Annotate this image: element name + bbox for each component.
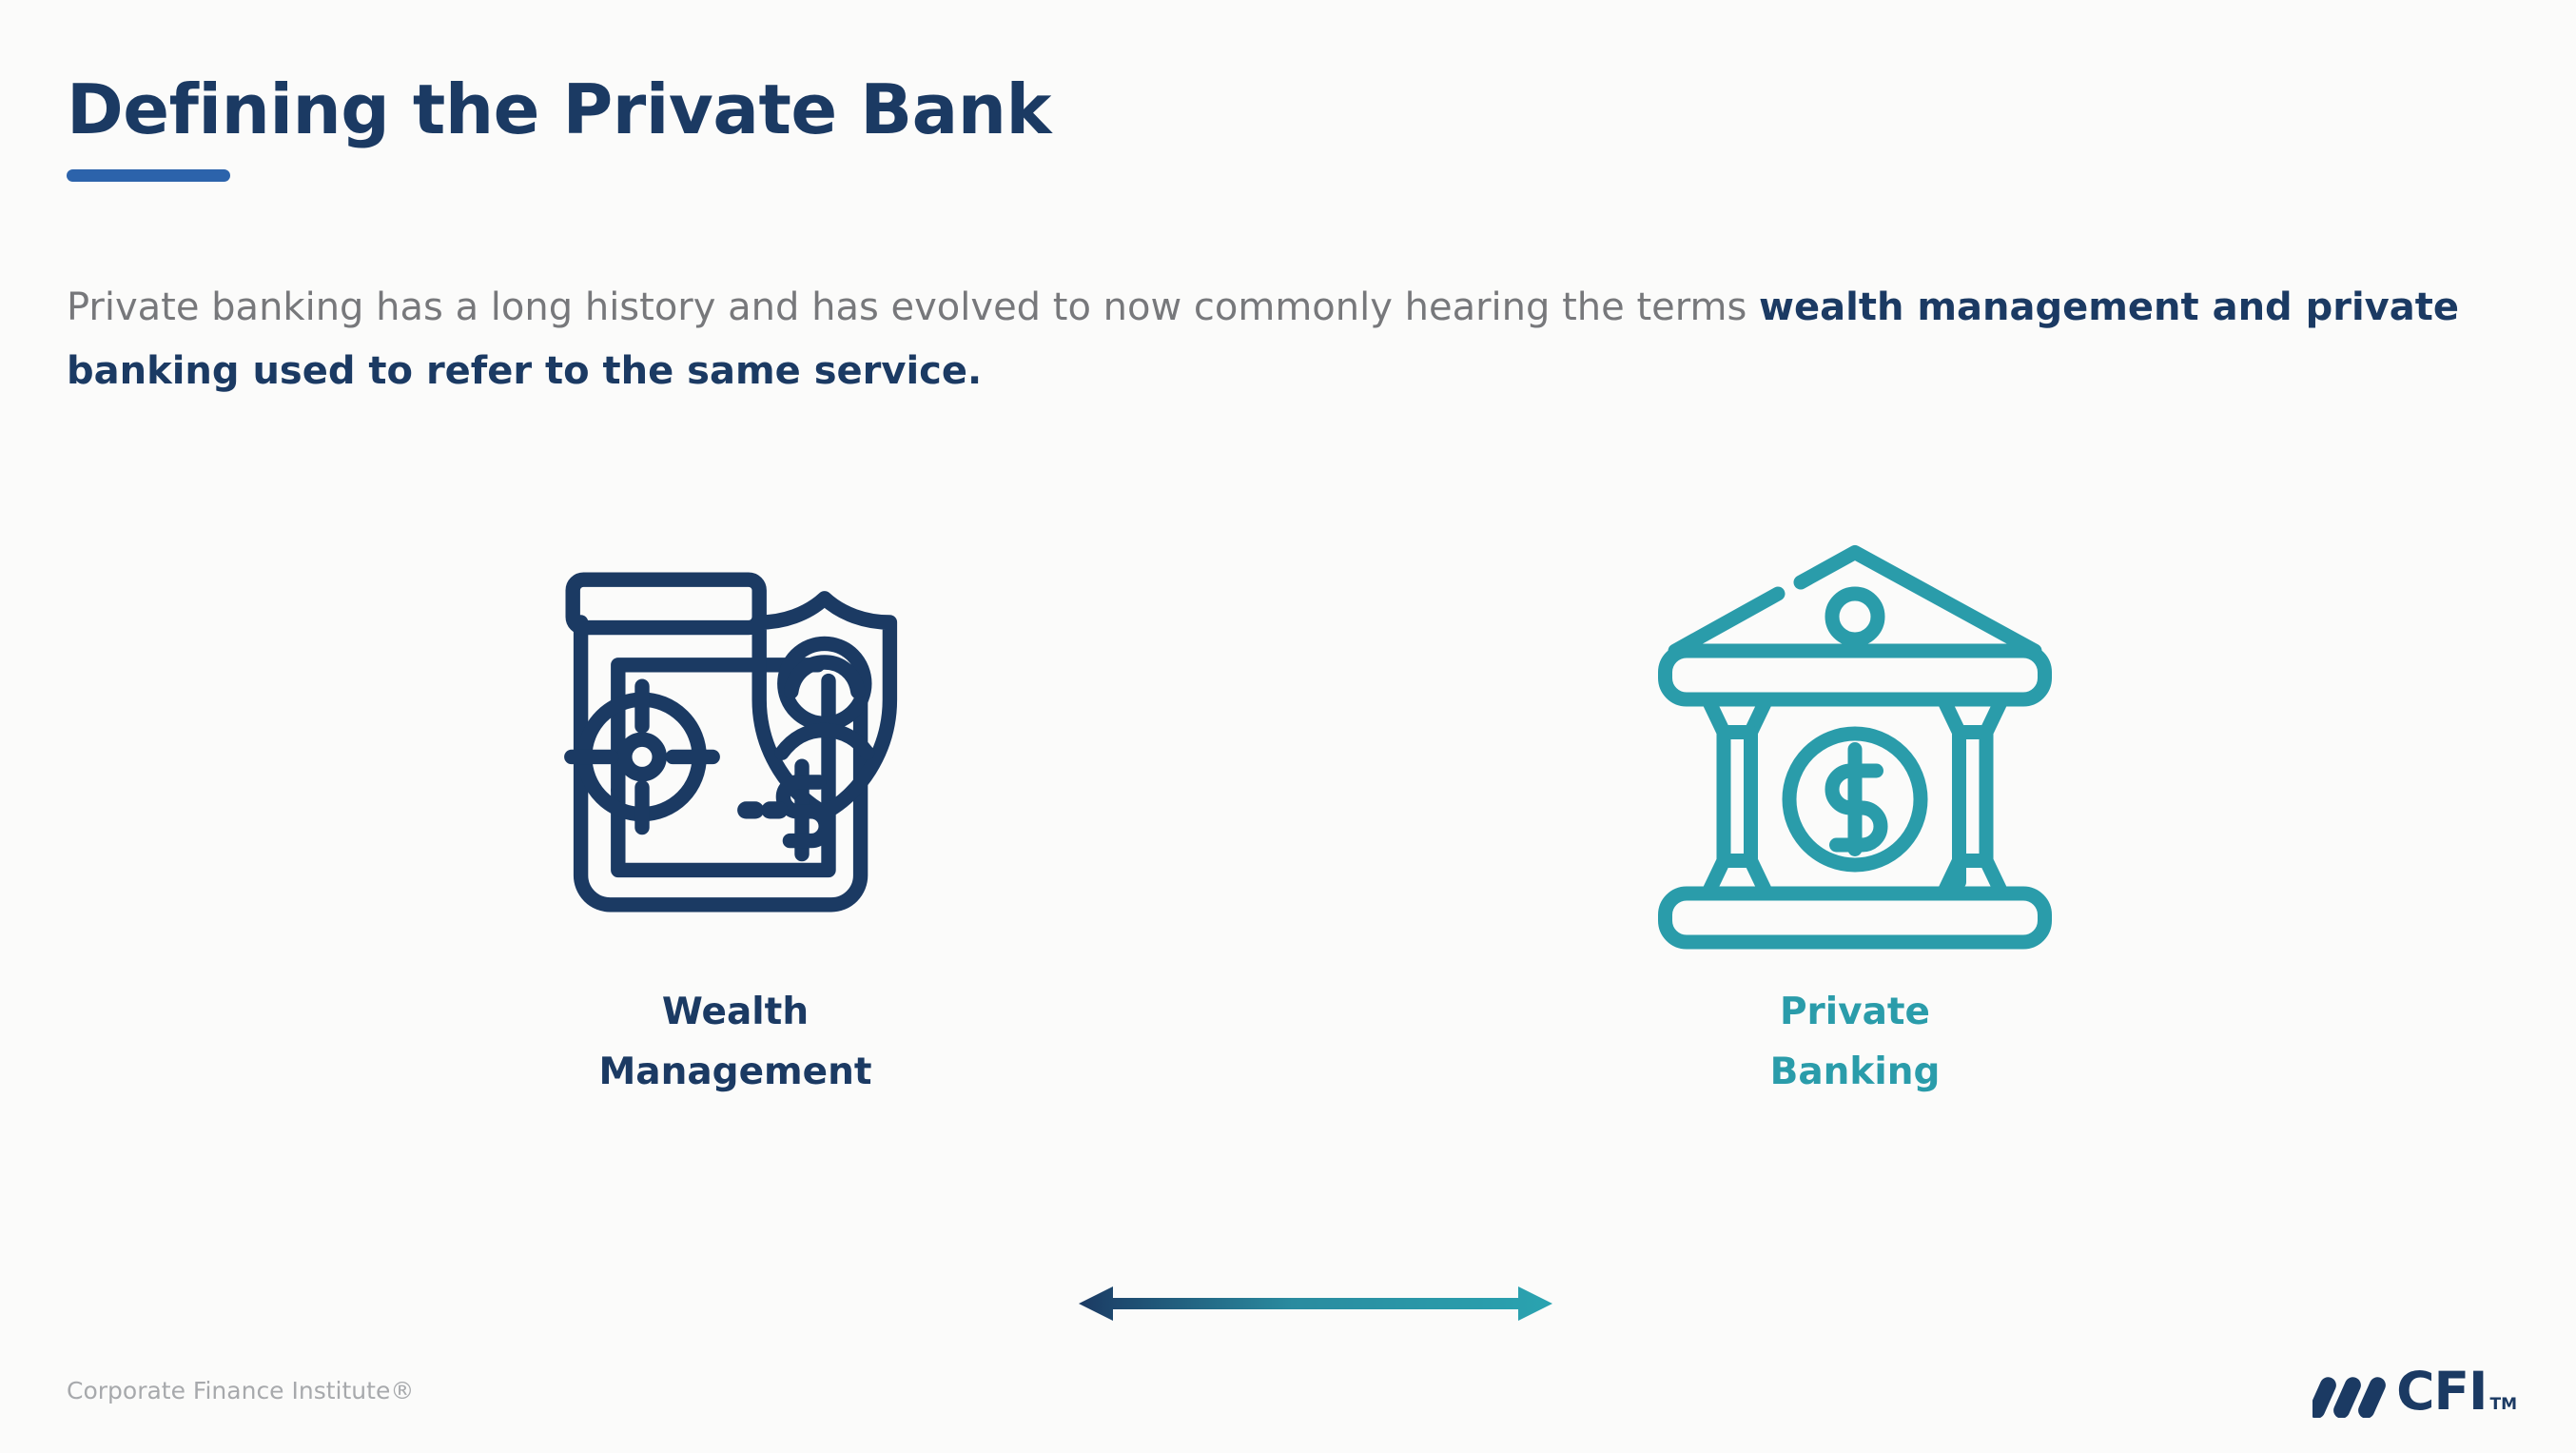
cfi-logo-wordmark: CFI <box>2396 1365 2487 1418</box>
diagram-node-private-banking: Private Banking <box>1589 533 2121 1161</box>
node-label-line-2: Management <box>598 1042 871 1102</box>
cfi-logo-bars-icon <box>2313 1363 2396 1418</box>
page-title: Defining the Private Bank <box>67 74 2483 147</box>
footer-credit: Corporate Finance Institute® <box>67 1377 414 1404</box>
cfi-logo: CFI TM <box>2313 1363 2517 1418</box>
cfi-logo-trademark: TM <box>2489 1395 2517 1414</box>
diagram-node-label: Wealth Management <box>598 982 871 1102</box>
diagram-node-label: Private Banking <box>1770 982 1941 1102</box>
portfolio-shield-target-icon <box>536 533 935 952</box>
bank-building-dollar-icon <box>1641 533 2069 952</box>
node-label-line-2: Banking <box>1770 1042 1941 1102</box>
relationship-diagram: Wealth Management <box>0 533 2576 1180</box>
diagram-node-wealth-management: Wealth Management <box>469 533 1002 1161</box>
intro-paragraph: Private banking has a long history and h… <box>67 276 2473 403</box>
slide-header: Defining the Private Bank <box>67 74 2483 182</box>
double-headed-arrow <box>1073 1275 1558 1332</box>
node-label-line-1: Private <box>1770 982 1941 1042</box>
title-accent-bar <box>67 169 230 182</box>
intro-plain-text: Private banking has a long history and h… <box>67 285 1759 329</box>
node-label-line-1: Wealth <box>598 982 871 1042</box>
